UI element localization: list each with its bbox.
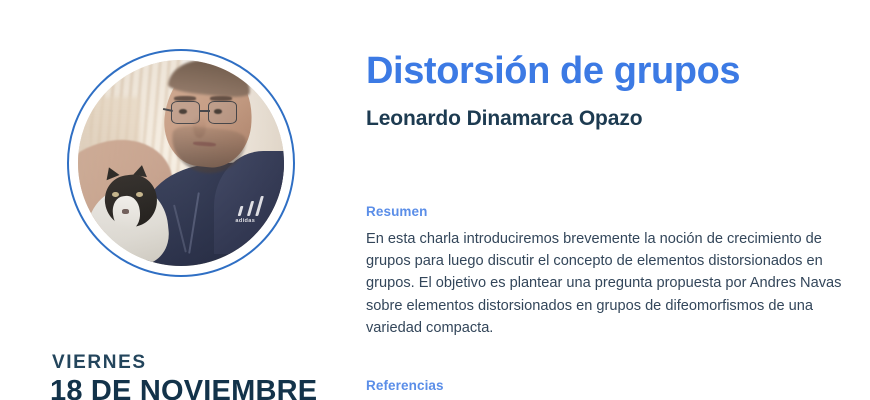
photo-color-grade [78, 60, 284, 266]
talk-author: Leonardo Dinamarca Opazo [366, 106, 866, 131]
seminar-poster: adidas Distorsión de g [0, 0, 870, 400]
date-weekday: VIERNES [52, 353, 147, 374]
resumen-body: En esta charla introduciremos brevemente… [366, 228, 848, 339]
talk-title: Distorsión de grupos [366, 52, 866, 92]
date-day-month: 18 DE NOVIEMBRE [50, 376, 317, 400]
resumen-heading: Resumen [366, 204, 427, 219]
photo-scene: adidas [78, 60, 284, 266]
referencias-heading: Referencias [366, 378, 444, 393]
speaker-photo: adidas [78, 60, 284, 266]
